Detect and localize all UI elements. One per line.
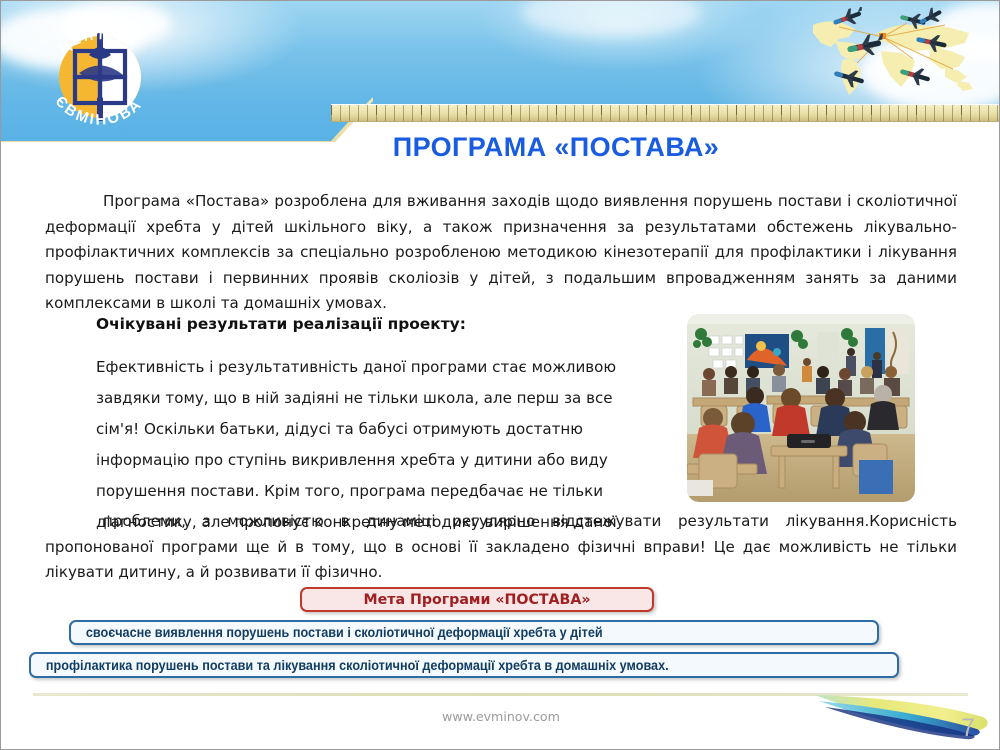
ruler-strip-decoration [331,104,1000,122]
page-title: ПРОГРАМА «ПОСТАВА» [1,132,1000,163]
expected-results-heading: Очікувані результати реалізації проекту: [96,311,656,337]
goal-callout-label: Мета Програми «ПОСТАВА» [364,592,591,608]
lecture-hall-photo [687,314,915,502]
callout-box-2[interactable]: профілактика порушень постави та лікуван… [29,652,899,678]
callout-box-2-label: профілактика порушень постави та лікуван… [31,658,669,673]
world-map-icon [795,7,995,99]
cloud-decoration [521,1,701,37]
closing-paragraph: проблеми, з можливістю в динаміці регуля… [45,509,957,586]
evminov-center-logo: ЦЕНТР ЄВМІНОВА [29,7,171,149]
callout-box-1-label: своєчасне виявлення порушень постави і с… [71,625,603,640]
callout-box-1[interactable]: своєчасне виявлення порушень постави і с… [69,620,879,645]
slide-canvas: ЦЕНТР ЄВМІНОВА ПРОГРАМА «ПОСТАВА» Програ… [0,0,1000,750]
goal-callout-box[interactable]: Мета Програми «ПОСТАВА» [300,587,654,612]
intro-paragraph: Програма «Постава» розроблена для вживан… [45,189,957,317]
page-number: 7 [961,714,975,743]
